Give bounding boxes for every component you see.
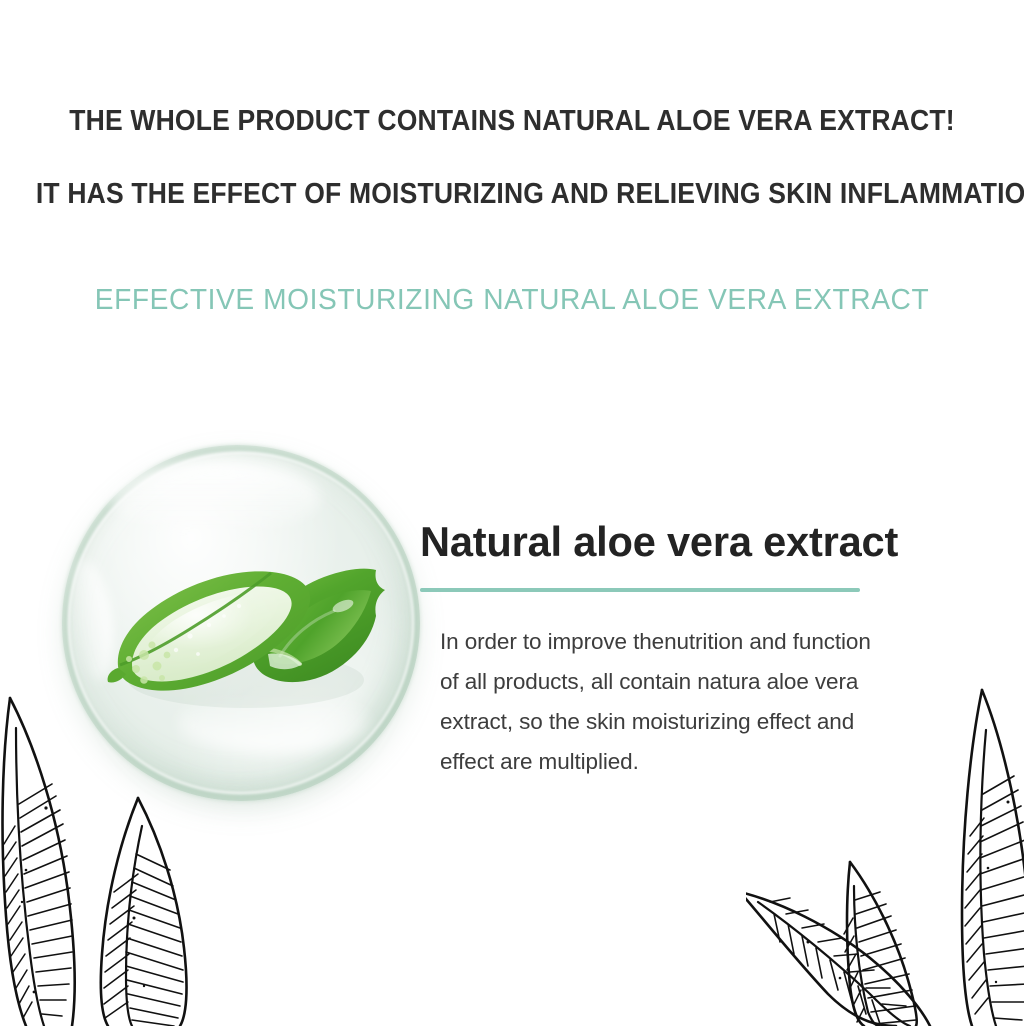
subtitle-text: EFFECTIVE MOISTURIZING NATURAL ALOE VERA… [15, 283, 1008, 317]
leaf-decoration-left [0, 686, 282, 1026]
headline-secondary: IT HAS THE EFFECT OF MOISTURIZING AND RE… [36, 177, 988, 211]
body-line-1: In order to improve thenutrition and fun… [440, 622, 960, 662]
headline-block: THE WHOLE PRODUCT CONTAINS NATURAL ALOE … [0, 104, 1024, 211]
promo-banner: THE WHOLE PRODUCT CONTAINS NATURAL ALOE … [0, 0, 1024, 1024]
leaf-decoration-right [746, 686, 1024, 1026]
title-divider [420, 588, 860, 592]
panel-title: Natural aloe vera extract [420, 516, 974, 568]
headline-primary: THE WHOLE PRODUCT CONTAINS NATURAL ALOE … [36, 104, 988, 138]
